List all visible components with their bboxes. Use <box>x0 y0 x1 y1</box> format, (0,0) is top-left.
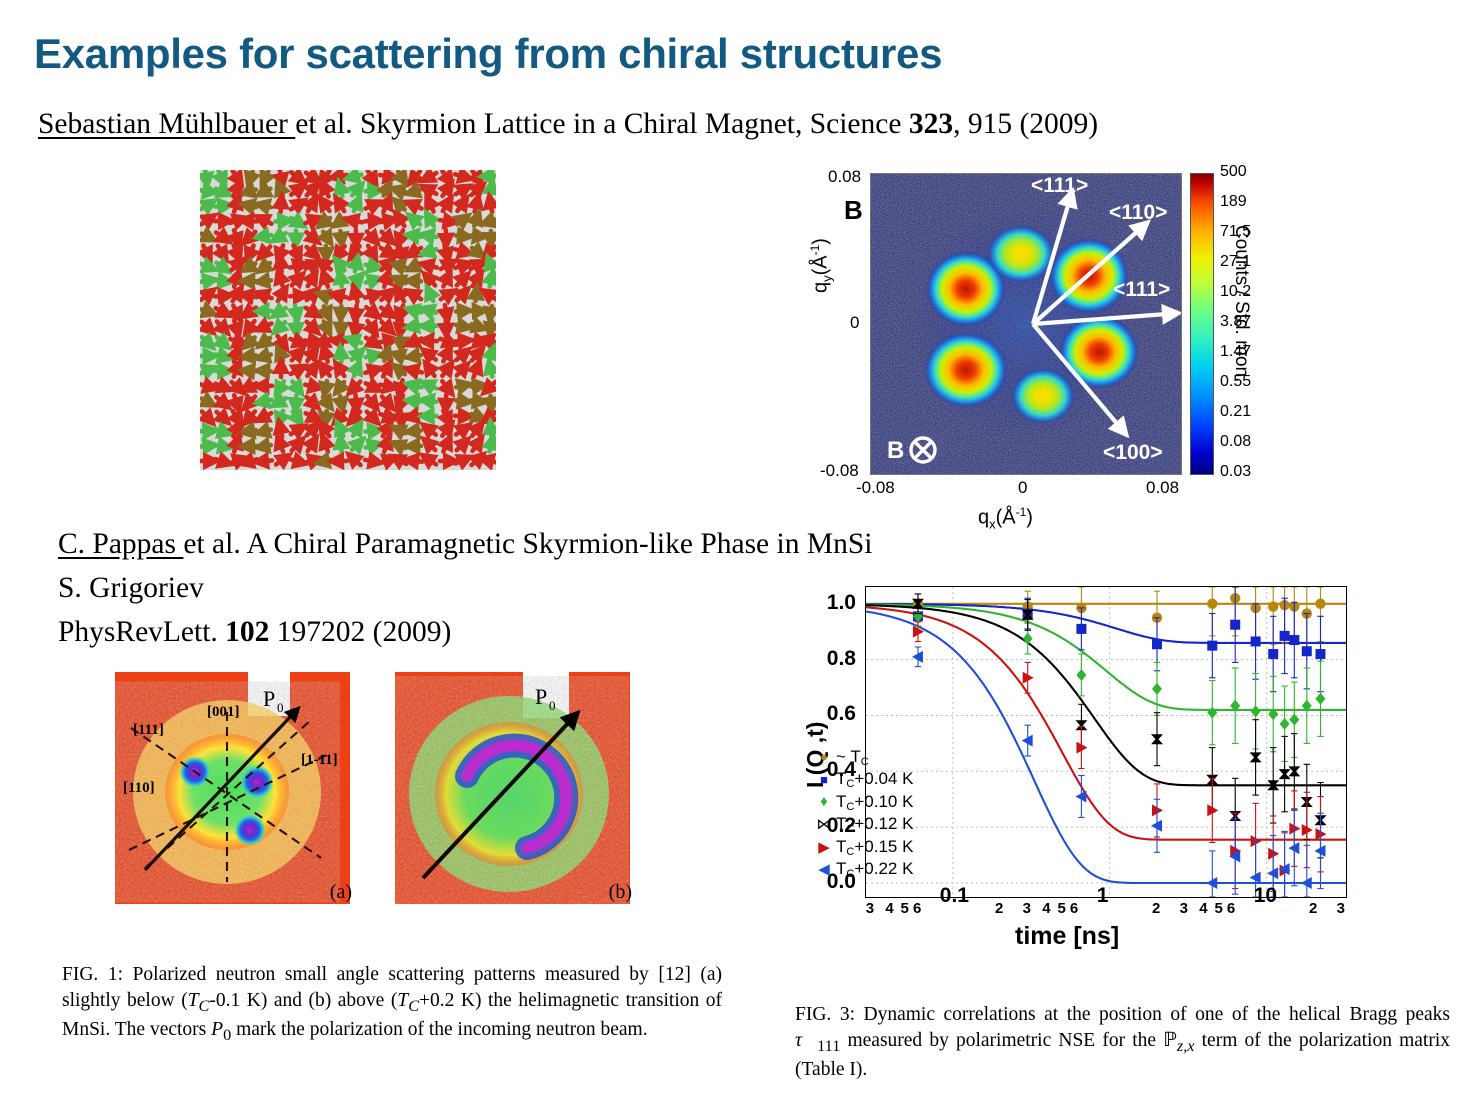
sans-x-tick-right: 0.08 <box>1146 478 1179 498</box>
citation-volume: 323 <box>909 108 953 140</box>
chart-x-minor-tick: 5 <box>1214 900 1222 917</box>
legend-item[interactable]: ⋈TC+0.12 K <box>812 814 913 837</box>
legend-marker-icon: ⋈ <box>812 815 836 834</box>
chart-y-tick: 0.8 <box>804 647 856 671</box>
chart-x-minor-tick: 2 <box>1309 900 1317 917</box>
fig1-panel-a-tag: (a) <box>330 881 352 904</box>
svg-text:<110>: <110> <box>1109 201 1167 224</box>
fig3-caption-text: Dynamic correlations at the position of … <box>795 1004 1450 1080</box>
chart-x-major-tick: 10 <box>1254 884 1277 908</box>
citation-pappas-line3: PhysRevLett. 102 197202 (2009) <box>58 616 451 649</box>
legend-marker-icon: ◀ <box>812 860 836 879</box>
svg-text:[111]: [111] <box>133 722 164 738</box>
legend-label: TC+0.12 K <box>836 814 913 835</box>
citation-pages: , 915 (2009) <box>953 108 1098 140</box>
chart-x-minor-tick: 3 <box>1337 900 1345 917</box>
chart-x-axis-label: time [ns] <box>1015 922 1119 951</box>
journal-name: PhysRevLett. <box>58 616 225 648</box>
svg-text:B: B <box>887 437 904 464</box>
colorbar-tick: 189 <box>1220 193 1247 211</box>
legend-item[interactable]: ▶TC+0.15 K <box>812 836 913 859</box>
chart-y-tick: 1.0 <box>804 591 856 615</box>
fig1-panel-a-scattering: [111] [110] [001] [1-11] P 0 (a) <box>115 672 350 904</box>
sans-detector-image: <111> <110> <111> <100> B <box>870 173 1182 475</box>
svg-text:<111>: <111> <box>1031 174 1088 197</box>
chart-x-minor-tick: 6 <box>1227 900 1235 917</box>
colorbar-tick: 500 <box>1220 163 1247 181</box>
citation-title: et al. Skyrmion Lattice in a Chiral Magn… <box>295 108 909 140</box>
chart-x-minor-tick: 4 <box>1199 900 1207 917</box>
fig1-caption: FIG. 1: Polarized neutron small angle sc… <box>62 962 722 1046</box>
citation-muhlbauer: Sebastian Mühlbauer et al. Skyrmion Latt… <box>38 108 1098 141</box>
chart-x-minor-tick: 4 <box>1042 900 1050 917</box>
fig1-caption-text: Polarized neutron small angle scattering… <box>62 964 722 1040</box>
fig1-caption-label: FIG. 1: <box>62 964 123 985</box>
chart-plot-area <box>865 586 1347 898</box>
svg-text:P: P <box>263 686 275 711</box>
chart-x-minor-tick: 3 <box>1023 900 1031 917</box>
sans-diffraction-figure: 0.08 -0.08 B qy(Å-1) 0 <box>800 165 1270 505</box>
legend-marker-icon: ● <box>812 749 836 765</box>
svg-text:P: P <box>535 684 547 709</box>
fig1-panel-b-scattering: P 0 (b) <box>395 672 630 904</box>
chart-x-minor-tick: 2 <box>1152 900 1160 917</box>
fig3-intensity-decay-chart: I (Q ,t) 0.00.20.40.60.81.0 345623456234… <box>800 578 1420 953</box>
chart-x-minor-tick: 5 <box>1057 900 1065 917</box>
citation-pappas-line2: S. Grigoriev <box>58 572 204 605</box>
sans-x-tick-left: -0.08 <box>856 478 895 498</box>
citation-pappas-line1: C. Pappas et al. A Chiral Paramagnetic S… <box>58 528 872 561</box>
legend-item[interactable]: ◀TC+0.22 K <box>812 859 913 882</box>
legend-marker-icon: ▶ <box>812 838 836 857</box>
chart-x-minor-tick: 4 <box>885 900 893 917</box>
chart-x-minor-tick: 2 <box>995 900 1003 917</box>
fig3-caption-label: FIG. 3: <box>795 1004 855 1025</box>
colorbar-title: Counts / Std. mon. <box>1230 225 1252 382</box>
legend-item[interactable]: ■TC+0.04 K <box>812 769 913 792</box>
sans-y-tick-zero: 0 <box>850 313 859 333</box>
journal-article: 197202 (2009) <box>269 616 451 648</box>
legend-marker-icon: ■ <box>812 772 836 788</box>
svg-text:[110]: [110] <box>123 780 155 796</box>
svg-text:[001]: [001] <box>207 704 240 720</box>
legend-marker-icon: ♦ <box>812 794 836 811</box>
svg-text:[1-11]: [1-11] <box>301 752 338 768</box>
legend-label: TC+0.15 K <box>836 837 913 858</box>
colorbar-tick: 0.21 <box>1220 403 1251 421</box>
sans-y-tick-bottom: -0.08 <box>820 461 859 481</box>
chart-x-minor-tick: 3 <box>1180 900 1188 917</box>
chart-x-minor-tick: 6 <box>913 900 921 917</box>
svg-text:<100>: <100> <box>1103 441 1163 464</box>
citation-author: Sebastian Mühlbauer <box>38 108 295 140</box>
sans-panel-letter: B <box>844 195 863 226</box>
colorbar-tick: 0.08 <box>1220 433 1251 451</box>
slide-root: Examples for scattering from chiral stru… <box>0 0 1476 1101</box>
svg-text:0: 0 <box>277 700 284 715</box>
colorbar-tick: 0.03 <box>1220 463 1251 481</box>
svg-text:<111>: <111> <box>1113 278 1170 301</box>
legend-label: TC+0.22 K <box>836 859 913 880</box>
fig3-caption: FIG. 3: Dynamic correlations at the posi… <box>795 1002 1450 1083</box>
legend-label: TC+0.04 K <box>836 769 913 790</box>
legend-label: ~ TC <box>836 747 869 768</box>
legend-item[interactable]: ●~ TC <box>812 746 913 769</box>
colorbar-gradient <box>1190 173 1214 475</box>
legend-item[interactable]: ♦TC+0.10 K <box>812 791 913 814</box>
legend-label: TC+0.10 K <box>836 792 913 813</box>
chart-x-minor-tick: 3 <box>866 900 874 917</box>
chart-x-minor-tick: 6 <box>1070 900 1078 917</box>
chart-x-major-tick: 1 <box>1097 884 1109 908</box>
sans-x-axis-label: qx(Å-1) <box>978 505 1033 532</box>
chart-x-major-tick: 0.1 <box>940 884 969 908</box>
chart-x-minor-tick: 5 <box>901 900 909 917</box>
skyrmion-spin-texture-image <box>200 170 496 470</box>
sans-y-axis-label: qy(Å-1) <box>808 238 835 293</box>
citation-author: C. Pappas <box>58 528 183 560</box>
citation-title: et al. A Chiral Paramagnetic Skyrmion-li… <box>183 528 872 560</box>
journal-volume: 102 <box>225 616 269 648</box>
fig1-panel-b-tag: (b) <box>609 881 632 904</box>
svg-text:0: 0 <box>549 698 556 713</box>
chart-legend: ●~ TC■TC+0.04 K♦TC+0.10 K⋈TC+0.12 K▶TC+0… <box>812 746 913 881</box>
sans-x-tick-mid: 0 <box>1018 478 1027 498</box>
page-title: Examples for scattering from chiral stru… <box>34 30 942 78</box>
chart-y-tick: 0.6 <box>804 702 856 726</box>
sans-y-tick-top: 0.08 <box>828 167 861 187</box>
